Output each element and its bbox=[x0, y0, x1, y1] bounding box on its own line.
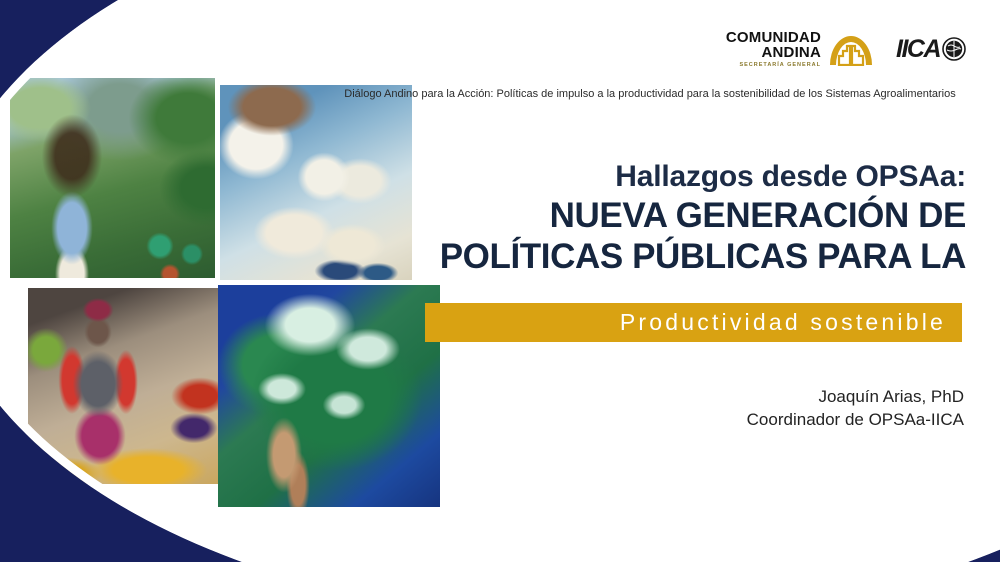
andean-arch-icon bbox=[828, 32, 874, 66]
title-slide: COMUNIDAD ANDINA SECRETARÍA GENERAL IICA bbox=[0, 0, 1000, 562]
highlight-bar: Productividad sostenible bbox=[425, 303, 962, 342]
author-name: Joaquín Arias, PhD bbox=[444, 385, 964, 408]
slide-content: COMUNIDAD ANDINA SECRETARÍA GENERAL IICA bbox=[0, 0, 1000, 562]
iica-wordmark: IICA bbox=[896, 35, 940, 64]
ca-line-3: SECRETARÍA GENERAL bbox=[726, 63, 821, 69]
event-subtitle: Diálogo Andino para la Acción: Políticas… bbox=[330, 88, 970, 100]
globe-icon bbox=[942, 37, 966, 61]
author-role: Coordinador de OPSAa-IICA bbox=[444, 408, 964, 431]
slide-footer: 18 de agosto, 2025 • Secretaría General … bbox=[0, 530, 1000, 542]
comunidad-andina-wordmark: COMUNIDAD ANDINA SECRETARÍA GENERAL bbox=[726, 30, 821, 69]
comunidad-andina-logo: COMUNIDAD ANDINA SECRETARÍA GENERAL bbox=[726, 30, 874, 69]
title-line-2: POLÍTICAS PÚBLICAS PARA LA bbox=[326, 237, 966, 277]
iica-logo: IICA bbox=[896, 35, 966, 64]
author-block: Joaquín Arias, PhD Coordinador de OPSAa-… bbox=[444, 385, 964, 432]
title-lead: Hallazgos desde OPSAa: bbox=[326, 160, 966, 194]
ca-line-1: COMUNIDAD bbox=[726, 30, 821, 45]
title-block: Hallazgos desde OPSAa: NUEVA GENERACIÓN … bbox=[326, 160, 966, 277]
logo-group: COMUNIDAD ANDINA SECRETARÍA GENERAL IICA bbox=[726, 30, 966, 69]
title-line-1: NUEVA GENERACIÓN DE bbox=[326, 196, 966, 236]
highlight-text: Productividad sostenible bbox=[620, 309, 946, 336]
ca-line-2: ANDINA bbox=[726, 45, 821, 60]
